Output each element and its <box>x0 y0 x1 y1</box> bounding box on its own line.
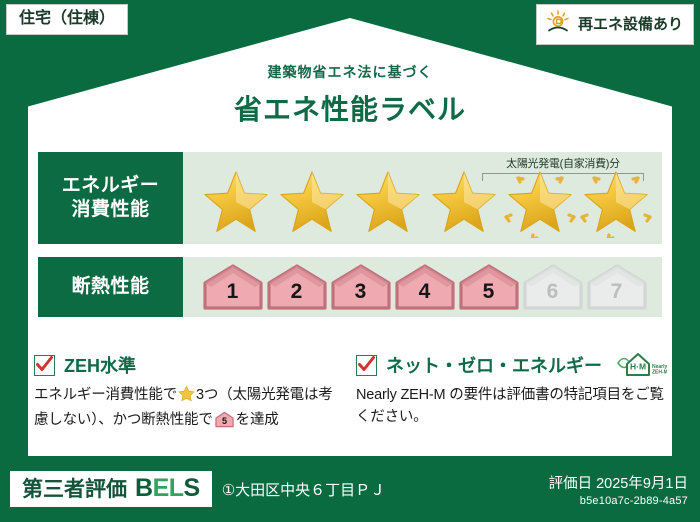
insulation-level-number: 2 <box>291 281 303 311</box>
energy-performance-row: エネルギー 消費性能 太陽光発電(自家消費)分 <box>38 152 662 244</box>
insulation-level-number: 7 <box>611 281 623 311</box>
insulation-level-number: 3 <box>355 281 367 311</box>
star-filled <box>351 168 425 238</box>
insulation-level-scale: 1 2 3 4 5 6 7 <box>183 257 662 317</box>
svg-text:ZEH-M: ZEH-M <box>652 370 667 376</box>
svg-text:H·M: H·M <box>630 362 646 372</box>
insulation-level-number: 6 <box>547 281 559 311</box>
nearly-zeh-m-logo: H·M Nearly ZEH-M <box>615 350 667 380</box>
insulation-row-label-text: 断熱性能 <box>71 275 149 299</box>
inline-house-badge: 5 <box>215 411 234 436</box>
zeh-description: エネルギー消費性能で3つ（太陽光発電は考慮しない）、かつ断熱性能で5を達成 <box>34 385 342 436</box>
bels-letter-l: L <box>169 474 184 502</box>
bels-en-label: BELS <box>135 476 200 501</box>
renewable-equipment-badge: 再エネ設備あり <box>536 4 694 45</box>
criteria-section: ZEH水準 エネルギー消費性能で3つ（太陽光発電は考慮しない）、かつ断熱性能で5… <box>34 352 666 436</box>
bels-letter-s: S <box>184 474 200 502</box>
bels-letter-e: E <box>153 474 169 502</box>
criterion-zeh-header: ZEH水準 <box>34 352 342 378</box>
svg-text:5: 5 <box>222 416 227 426</box>
insulation-level-number: 4 <box>419 281 431 311</box>
insulation-performance-row: 断熱性能 1 2 3 4 5 <box>38 257 662 317</box>
footer: 第三者評価 BELS ①大田区中央６丁目ＰＪ 評価日 2025年9月1日 b5e… <box>0 456 700 522</box>
criterion-net-zero-energy: ネット・ゼロ・エネルギー H·M Nearly ZEH-M Nearly ZEH… <box>356 352 666 436</box>
star-filled <box>199 168 273 238</box>
dwelling-type-label: 住宅（住棟） <box>19 10 115 27</box>
label-title: 省エネ性能ラベル <box>0 88 700 128</box>
inline-star-icon <box>178 385 195 410</box>
zeh-desc-part1: エネルギー消費性能で <box>34 387 177 403</box>
insulation-level-active: 2 <box>266 263 328 311</box>
nze-title: ネット・ゼロ・エネルギー <box>386 352 602 378</box>
insulation-level-number: 1 <box>227 281 239 311</box>
energy-row-label-line2: 消費性能 <box>71 198 149 222</box>
insulation-level-inactive: 7 <box>586 263 648 311</box>
solar-sun-icon <box>545 10 571 38</box>
label-subtitle: 建築物省エネ法に基づく <box>0 62 700 82</box>
star-filled <box>427 168 501 238</box>
criterion-nze-header: ネット・ゼロ・エネルギー H·M Nearly ZEH-M <box>356 352 666 378</box>
performance-rows: エネルギー 消費性能 太陽光発電(自家消費)分 <box>38 152 662 317</box>
insulation-level-active: 3 <box>330 263 392 311</box>
property-address: ①大田区中央６丁目ＰＪ <box>222 479 385 500</box>
star-solar <box>579 168 653 238</box>
energy-row-label-line1: エネルギー <box>62 174 160 198</box>
criterion-zeh: ZEH水準 エネルギー消費性能で3つ（太陽光発電は考慮しない）、かつ断熱性能で5… <box>34 352 342 436</box>
title-block: 建築物省エネ法に基づく 省エネ性能ラベル <box>0 62 700 128</box>
star-rating <box>183 166 662 240</box>
evaluation-date: 評価日 2025年9月1日 <box>549 472 688 493</box>
energy-row-label: エネルギー 消費性能 <box>38 152 183 244</box>
energy-performance-label: 住宅（住棟） 再エネ設備あり 建築物省エネ法に基づく 省エネ性能ラベル <box>0 0 700 522</box>
zeh-desc-part3: を達成 <box>236 412 279 428</box>
bels-logo: 第三者評価 BELS <box>10 471 212 507</box>
nze-description: Nearly ZEH-M の要件は評価書の特記項目をご覧ください。 <box>356 385 666 429</box>
bels-jp-label: 第三者評価 <box>22 479 127 500</box>
insulation-level-active: 4 <box>394 263 456 311</box>
insulation-level-active: 5 <box>458 263 520 311</box>
insulation-row-body: 1 2 3 4 5 6 7 <box>183 257 662 317</box>
star-filled <box>275 168 349 238</box>
insulation-level-inactive: 6 <box>522 263 584 311</box>
energy-row-body: 太陽光発電(自家消費)分 <box>183 152 662 244</box>
zeh-checkbox[interactable] <box>34 355 55 376</box>
footer-meta: 評価日 2025年9月1日 b5e10a7c-2b89-4a57 <box>549 472 688 507</box>
bels-letter-b: B <box>135 474 153 502</box>
nze-checkbox[interactable] <box>356 355 377 376</box>
insulation-level-number: 5 <box>483 281 495 311</box>
dwelling-type-badge: 住宅（住棟） <box>6 4 128 35</box>
label-id: b5e10a7c-2b89-4a57 <box>549 495 688 507</box>
insulation-row-label: 断熱性能 <box>38 257 183 317</box>
insulation-level-active: 1 <box>202 263 264 311</box>
zeh-title: ZEH水準 <box>64 352 136 378</box>
renewable-equipment-label: 再エネ設備あり <box>578 17 683 32</box>
star-solar <box>503 168 577 238</box>
